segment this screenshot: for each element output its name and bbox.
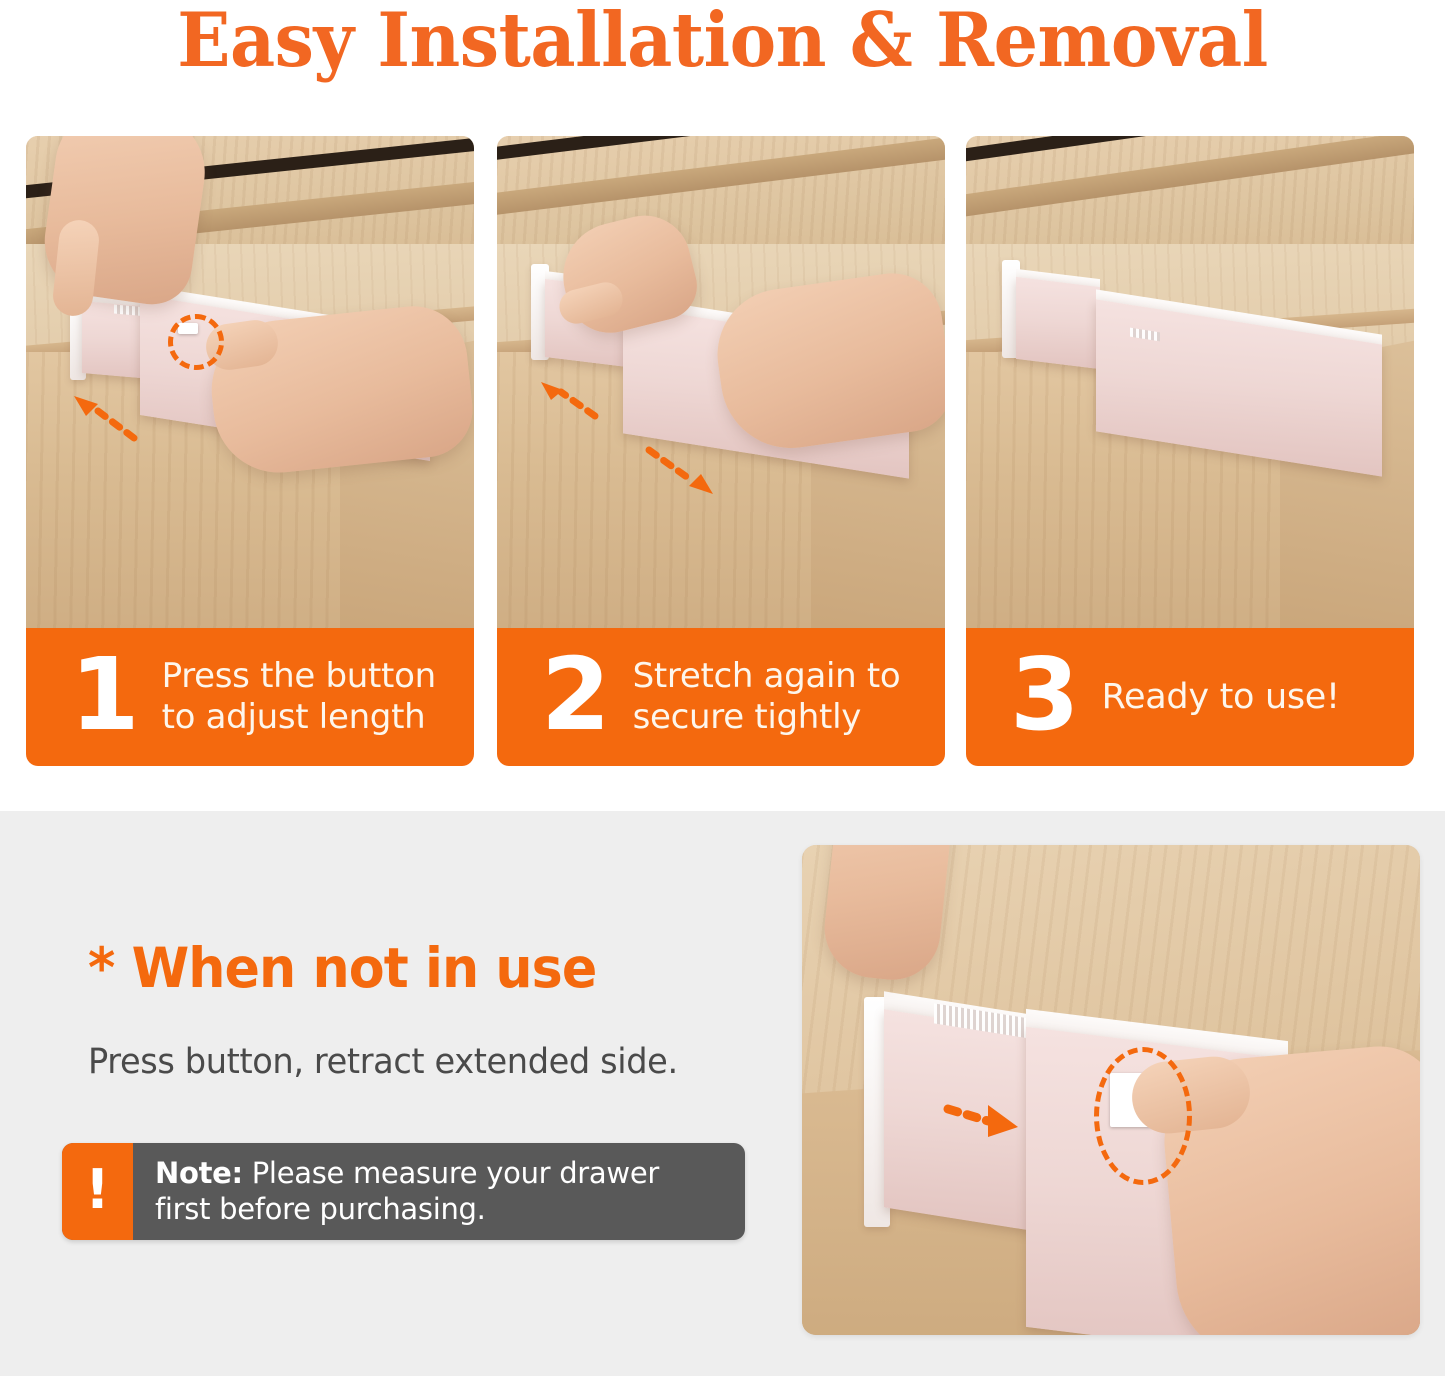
note-banner: ! Note: Please measure your drawer first… <box>62 1143 745 1240</box>
retract-direction-arrow <box>944 1097 1020 1141</box>
step-card-3: 3 Ready to use! <box>966 136 1414 766</box>
button-highlight-circle <box>1094 1047 1192 1185</box>
step-3-caption: 3 Ready to use! <box>966 628 1414 766</box>
bottom-text-block: * When not in use Press button, retract … <box>88 936 788 1082</box>
note-text: Note: Please measure your drawer first b… <box>133 1143 745 1240</box>
step-1-number: 1 <box>70 650 140 740</box>
divider-inner-segment <box>1016 277 1100 369</box>
step-1-caption-line2: to adjust length <box>162 697 436 738</box>
note-line1: Please measure your drawer <box>243 1156 659 1190</box>
note-line2: first before purchasing. <box>155 1192 659 1227</box>
step-2-caption: 2 Stretch again to secure tightly <box>497 628 945 766</box>
installation-section: Easy Installation & Removal <box>0 0 1445 811</box>
adjust-direction-arrow <box>72 394 142 442</box>
retract-photo <box>802 845 1420 1335</box>
step-2-photo <box>497 136 945 628</box>
step-2-caption-text: Stretch again to secure tightly <box>633 656 901 739</box>
step-2-caption-line1: Stretch again to <box>633 656 901 696</box>
exclamation-icon: ! <box>62 1143 133 1240</box>
step-1-caption: 1 Press the button to adjust length <box>26 628 474 766</box>
step-1-caption-text: Press the button to adjust length <box>162 656 436 739</box>
step-1-photo <box>26 136 474 628</box>
step-card-2: 2 Stretch again to secure tightly <box>497 136 945 766</box>
step-card-1: 1 Press the button to adjust length <box>26 136 474 766</box>
step-1-caption-line1: Press the button <box>162 656 436 696</box>
stretch-arrow-left <box>539 380 601 420</box>
step-3-caption-text: Ready to use! <box>1102 676 1340 719</box>
stretch-arrow-right <box>645 446 717 498</box>
step-3-number: 3 <box>1010 650 1080 740</box>
step-3-caption-line1: Ready to use! <box>1102 677 1340 717</box>
infographic-page: Easy Installation & Removal <box>0 0 1445 1376</box>
when-not-in-use-subheading: Press button, retract extended side. <box>88 1042 760 1082</box>
button-highlight-circle <box>168 314 224 370</box>
page-title: Easy Installation & Removal <box>51 0 1395 76</box>
step-2-number: 2 <box>541 650 611 740</box>
step-3-photo <box>966 136 1414 628</box>
when-not-in-use-heading: * When not in use <box>88 936 753 1000</box>
step-2-caption-line2: secure tightly <box>633 697 901 738</box>
steps-row: 1 Press the button to adjust length <box>26 136 1420 766</box>
note-label: Note: <box>155 1156 243 1190</box>
